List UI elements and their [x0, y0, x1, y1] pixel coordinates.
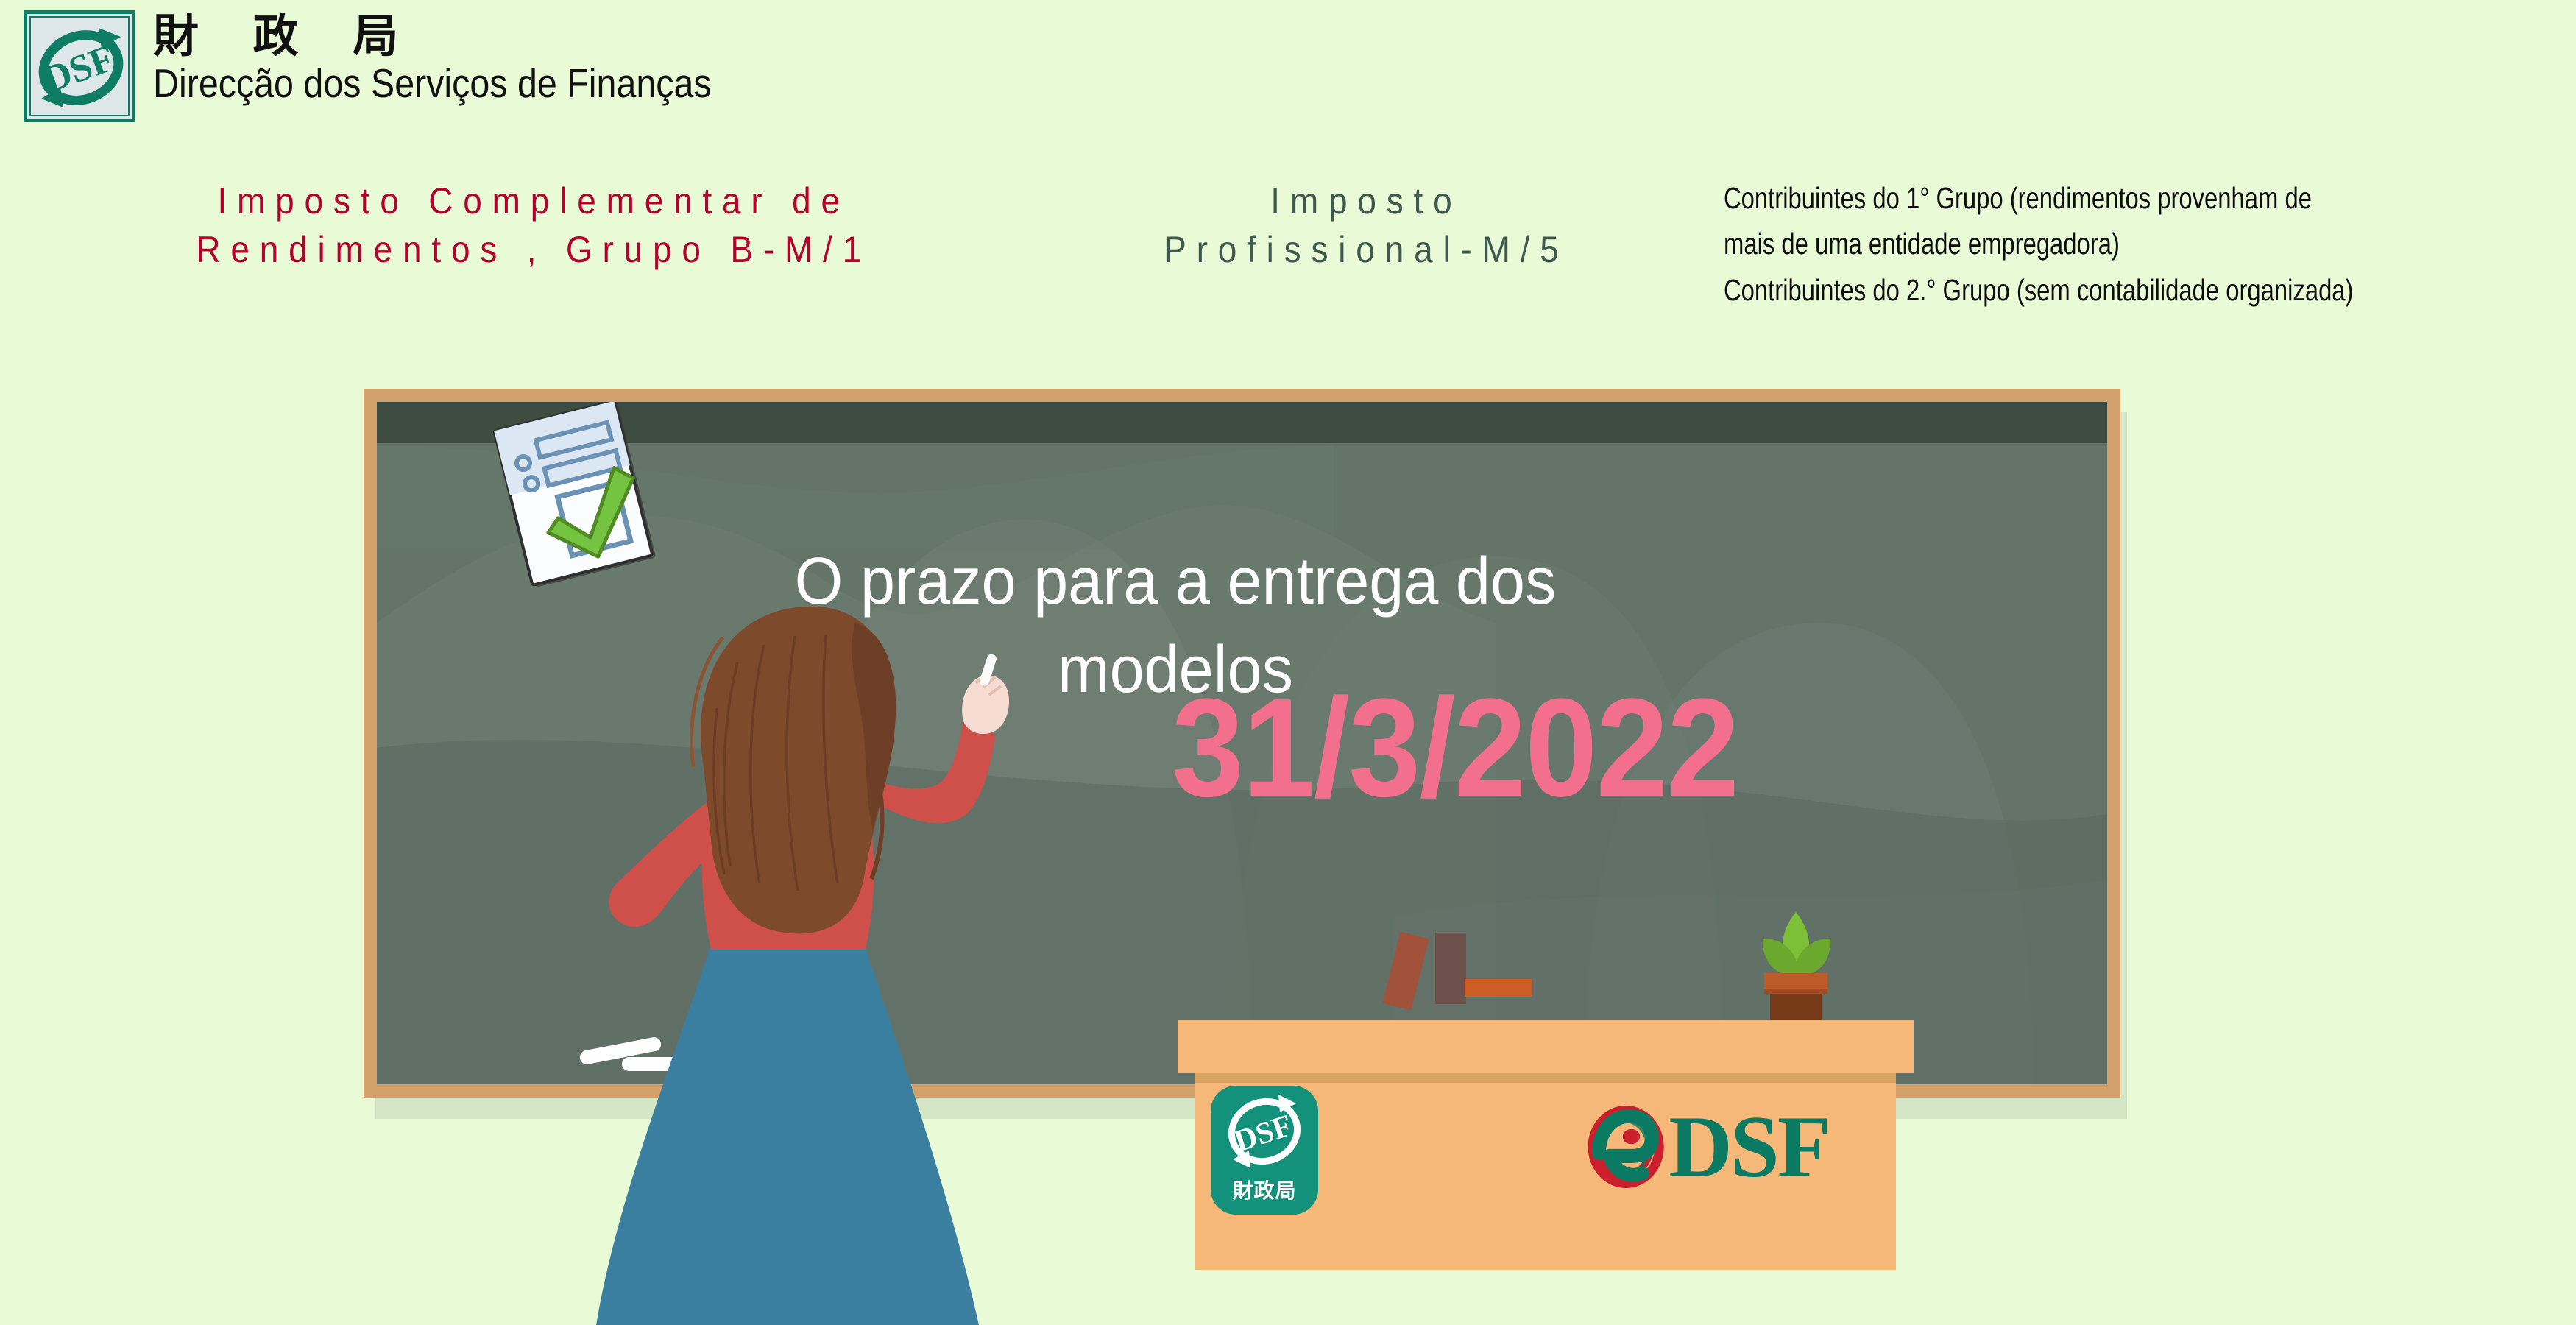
note-line-3: Contribuintes do 2.° Grupo (sem contabil…	[1724, 267, 2418, 313]
poster-canvas: DSF 財 政 局 Direcção dos Serviços de Finan…	[0, 0, 2576, 1325]
book-flat	[1465, 979, 1532, 997]
org-name-cn: 財 政 局	[153, 12, 788, 60]
heading-imposto-profissional: Imposto Profissional-M/5	[1082, 177, 1651, 274]
teacher-svg	[567, 574, 1038, 1325]
plant-svg	[1733, 902, 1858, 1023]
brand-text-block: 財 政 局 Direcção dos Serviços de Finanças	[153, 10, 788, 105]
dsf-app-icon[interactable]: DSF 財政局	[1211, 1086, 1318, 1215]
org-name-pt: Direcção dos Serviços de Finanças	[153, 62, 712, 105]
potted-plant-icon	[1733, 902, 1858, 1027]
chalkboard-deadline-date: 31/3/2022	[1172, 678, 1738, 818]
brand-header: DSF 財 政 局 Direcção dos Serviços de Finan…	[24, 10, 907, 135]
book-upright	[1435, 933, 1466, 1004]
edsf-e-mark-icon	[1586, 1092, 1666, 1202]
heading-imposto-complementar: Imposto Complementar de Rendimentos , Gr…	[87, 177, 980, 274]
notes-block: Contribuintes do 1° Grupo (rendimentos p…	[1724, 175, 2418, 313]
note-line-1: Contribuintes do 1° Grupo (rendimentos p…	[1724, 175, 2418, 221]
dsf-emblem-icon: DSF	[24, 10, 135, 122]
dsf-app-emblem-icon: DSF	[1211, 1086, 1318, 1181]
edsf-logo[interactable]: DSF	[1586, 1088, 1829, 1206]
dsf-app-label-cn: 財政局	[1211, 1175, 1318, 1204]
edsf-logo-text: DSF	[1669, 1103, 1829, 1191]
dsf-emblem-svg: DSF	[31, 18, 130, 116]
note-line-2: mais de uma entidade empregadora)	[1724, 221, 2418, 266]
desk-top	[1178, 1020, 1914, 1073]
desk-lip	[1195, 1073, 1896, 1083]
teacher-writing-illustration	[567, 574, 1038, 1325]
